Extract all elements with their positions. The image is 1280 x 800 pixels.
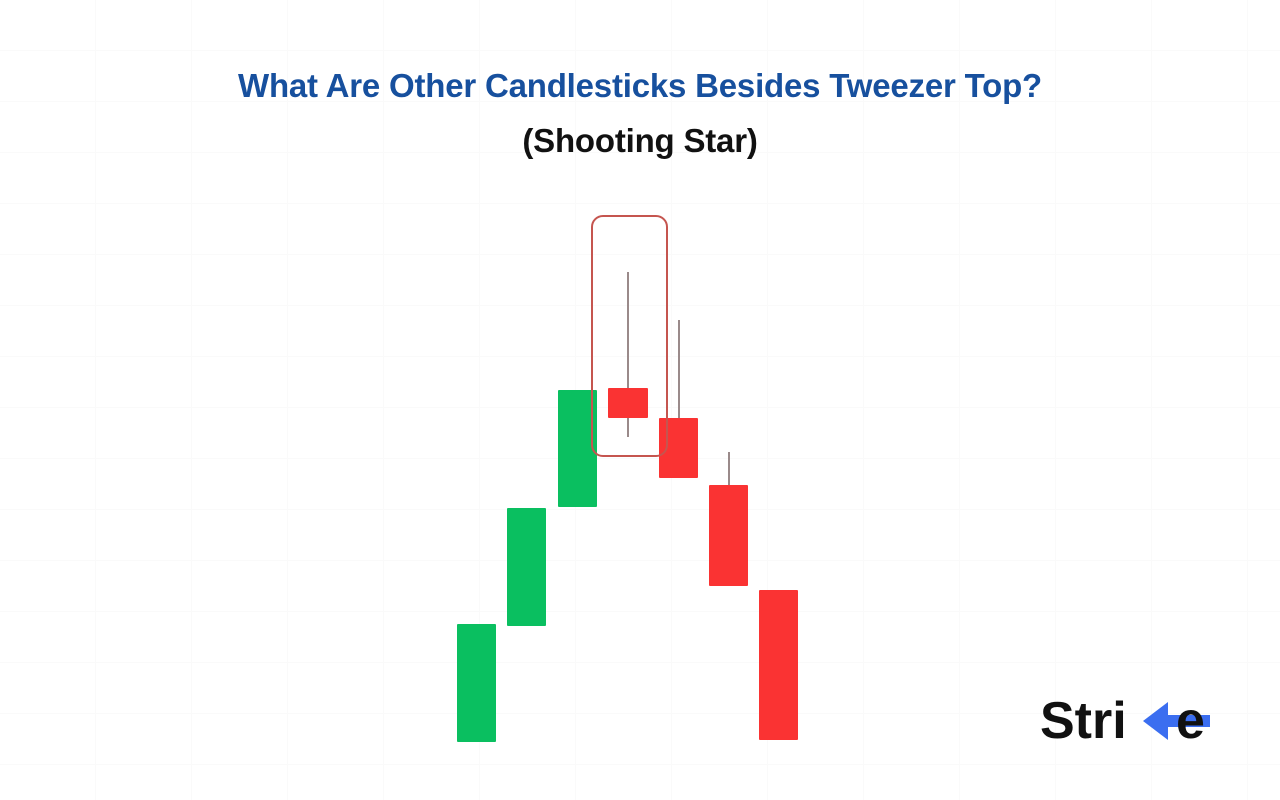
strike-logo-mark: Stri e [1040,690,1230,752]
candle-body [759,590,798,740]
strike-logo: Stri e [1040,690,1230,752]
candle-body [709,485,748,586]
candle-body [457,624,496,742]
candlestick-chart [0,0,1280,800]
shooting-star-highlight-box [591,215,668,457]
strike-logo-text-before: Stri [1040,692,1127,750]
strike-logo-text-after: e [1176,692,1205,750]
candle-body [507,508,546,626]
image-canvas: What Are Other Candlesticks Besides Twee… [0,0,1280,800]
